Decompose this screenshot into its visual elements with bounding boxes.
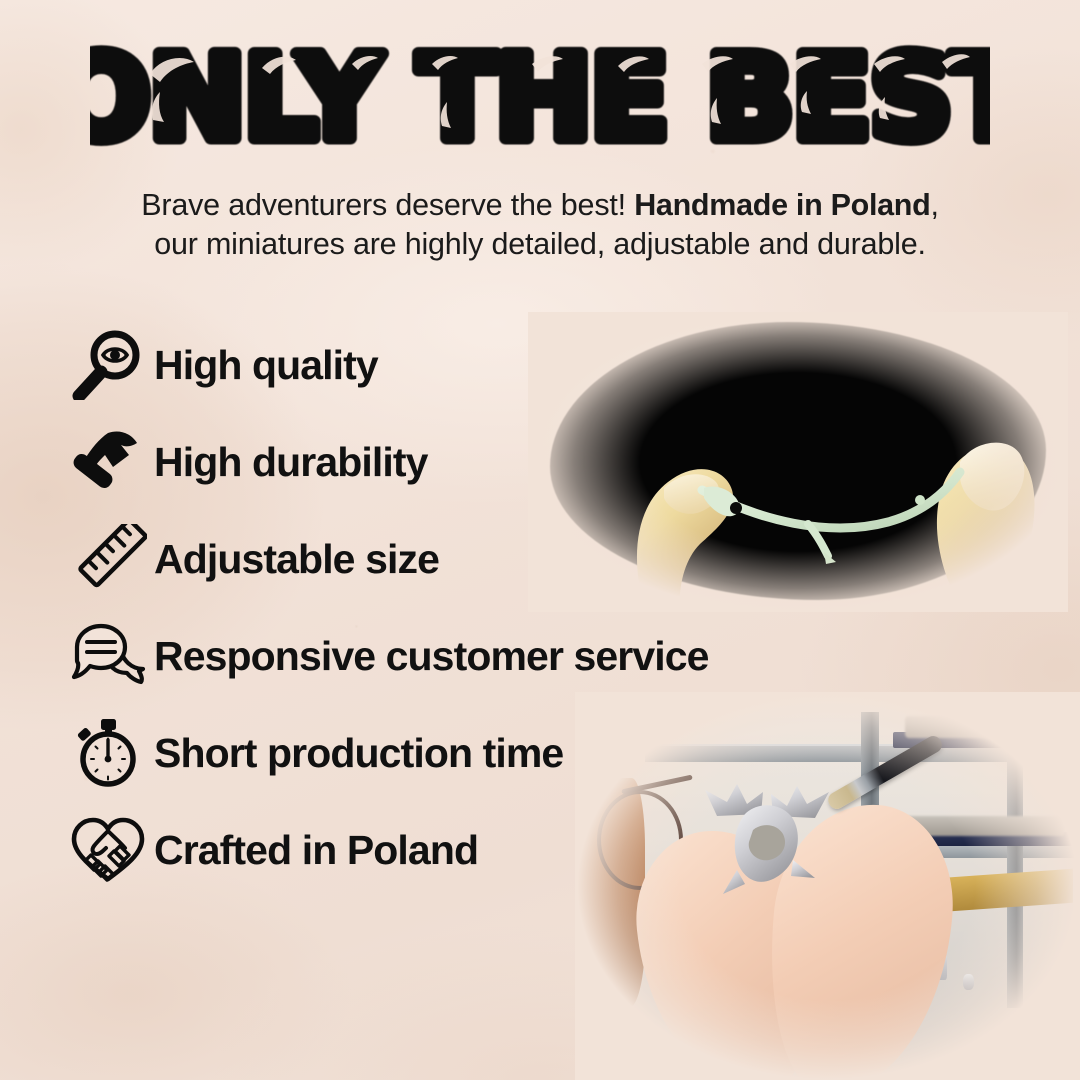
- feature-label: High quality: [154, 345, 378, 386]
- stopwatch-icon: [62, 718, 154, 788]
- feature-item-customer-service: Responsive customer service: [62, 621, 802, 691]
- subtitle-line1-suffix: ,: [930, 188, 938, 222]
- feature-label: Crafted in Poland: [154, 830, 478, 871]
- feature-list: High quality High durability: [62, 330, 802, 912]
- feature-label: Short production time: [154, 733, 563, 774]
- feature-item-adjustable-size: Adjustable size: [62, 524, 802, 594]
- feature-item-high-durability: High durability: [62, 427, 802, 497]
- feature-item-crafted-in-poland: Crafted in Poland: [62, 815, 802, 885]
- page-title: ONLY THE BEST: [0, 34, 1080, 166]
- subtitle-line1-prefix: Brave adventurers deserve the best!: [141, 188, 634, 222]
- ruler-icon: [62, 524, 154, 594]
- heart-handshake-icon: [62, 815, 154, 885]
- headline-glyphs: ONLY THE BEST: [90, 34, 990, 166]
- feature-item-production-time: Short production time: [62, 718, 802, 788]
- feature-label: Adjustable size: [154, 539, 439, 580]
- magnifier-eye-icon: [62, 330, 154, 400]
- hammer-icon: [62, 427, 154, 497]
- feature-label: High durability: [154, 442, 428, 483]
- subtitle: Brave adventurers deserve the best! Hand…: [60, 186, 1020, 264]
- feature-item-high-quality: High quality: [62, 330, 802, 400]
- miniature-part-knob: [915, 495, 925, 505]
- shelf-upright-right: [1007, 708, 1023, 1008]
- subtitle-line1-bold: Handmade in Poland: [634, 188, 930, 222]
- miniature-cluster-upper: [905, 716, 1065, 738]
- promo-poster: ONLY THE BEST Brave adven: [0, 0, 1080, 1080]
- feature-label: Responsive customer service: [154, 636, 709, 677]
- headline-text-art: ONLY THE BEST: [90, 34, 990, 166]
- subtitle-line2: our miniatures are highly detailed, adju…: [154, 227, 926, 261]
- speech-bubbles-icon: [62, 621, 154, 691]
- small-miniature-b: [963, 974, 974, 990]
